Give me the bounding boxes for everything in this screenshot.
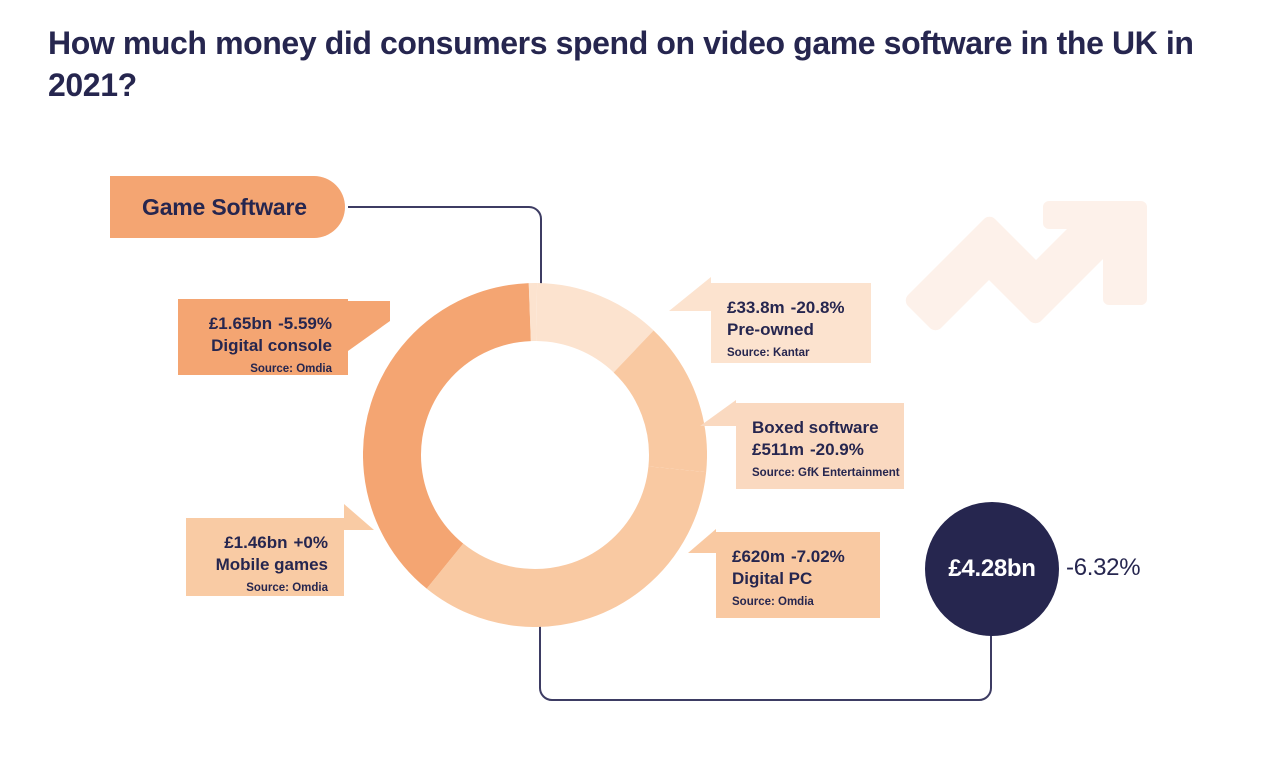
- callout-source-digital-console: Source: Omdia: [194, 361, 332, 378]
- callout-pointer-digital-pc: [688, 529, 716, 553]
- callout-value-row-boxed-software: £511m-20.9%: [752, 439, 888, 461]
- total-change-label: -6.32%: [1066, 554, 1140, 582]
- callout-name-boxed-software: Boxed software: [752, 417, 888, 439]
- callout-digital-console[interactable]: £1.65bn-5.59% Digital console Source: Om…: [178, 299, 348, 375]
- total-value-circle[interactable]: £4.28bn: [925, 502, 1059, 636]
- callout-change-pre-owned: -20.8%: [791, 298, 845, 317]
- callout-source-digital-pc: Source: Omdia: [732, 594, 864, 611]
- callout-name-pre-owned: Pre-owned: [727, 319, 855, 341]
- callout-source-mobile-games: Source: Omdia: [202, 580, 328, 597]
- callout-pointer-boxed-software: [700, 400, 736, 426]
- callout-value-digital-pc: £620m: [732, 547, 785, 566]
- callout-value-row-digital-console: £1.65bn-5.59%: [194, 313, 332, 335]
- callout-pointer-mobile-games: [344, 504, 374, 530]
- callout-name-digital-pc: Digital PC: [732, 568, 864, 590]
- callout-source-pre-owned: Source: Kantar: [727, 345, 855, 362]
- callout-change-boxed-software: -20.9%: [810, 440, 864, 459]
- callout-change-mobile-games: +0%: [294, 533, 329, 552]
- callout-value-row-mobile-games: £1.46bn+0%: [202, 532, 328, 554]
- callout-boxed-software[interactable]: Boxed software £511m-20.9% Source: GfK E…: [736, 403, 904, 489]
- callout-pointer-pre-owned: [669, 277, 711, 311]
- callout-value-row-pre-owned: £33.8m-20.8%: [727, 297, 855, 319]
- callout-value-mobile-games: £1.46bn: [224, 533, 287, 552]
- game-software-pill-label: Game Software: [142, 194, 307, 221]
- callout-pre-owned[interactable]: £33.8m-20.8% Pre-owned Source: Kantar: [711, 283, 871, 363]
- callout-digital-pc[interactable]: £620m-7.02% Digital PC Source: Omdia: [716, 532, 880, 618]
- callout-pointer-digital-console: [348, 301, 390, 351]
- callout-source-boxed-software: Source: GfK Entertainment: [752, 465, 888, 482]
- callout-value-pre-owned: £33.8m: [727, 298, 785, 317]
- callout-change-digital-pc: -7.02%: [791, 547, 845, 566]
- callout-mobile-games[interactable]: £1.46bn+0% Mobile games Source: Omdia: [186, 518, 344, 596]
- total-value-label: £4.28bn: [948, 555, 1035, 583]
- callout-name-mobile-games: Mobile games: [202, 554, 328, 576]
- callout-value-digital-console: £1.65bn: [209, 314, 272, 333]
- game-software-category-pill[interactable]: Game Software: [110, 176, 345, 238]
- callout-name-digital-console: Digital console: [194, 335, 332, 357]
- callout-value-row-digital-pc: £620m-7.02%: [732, 546, 864, 568]
- callout-value-boxed-software: £511m: [752, 440, 804, 459]
- callout-change-digital-console: -5.59%: [278, 314, 332, 333]
- donut-chart: [363, 283, 707, 627]
